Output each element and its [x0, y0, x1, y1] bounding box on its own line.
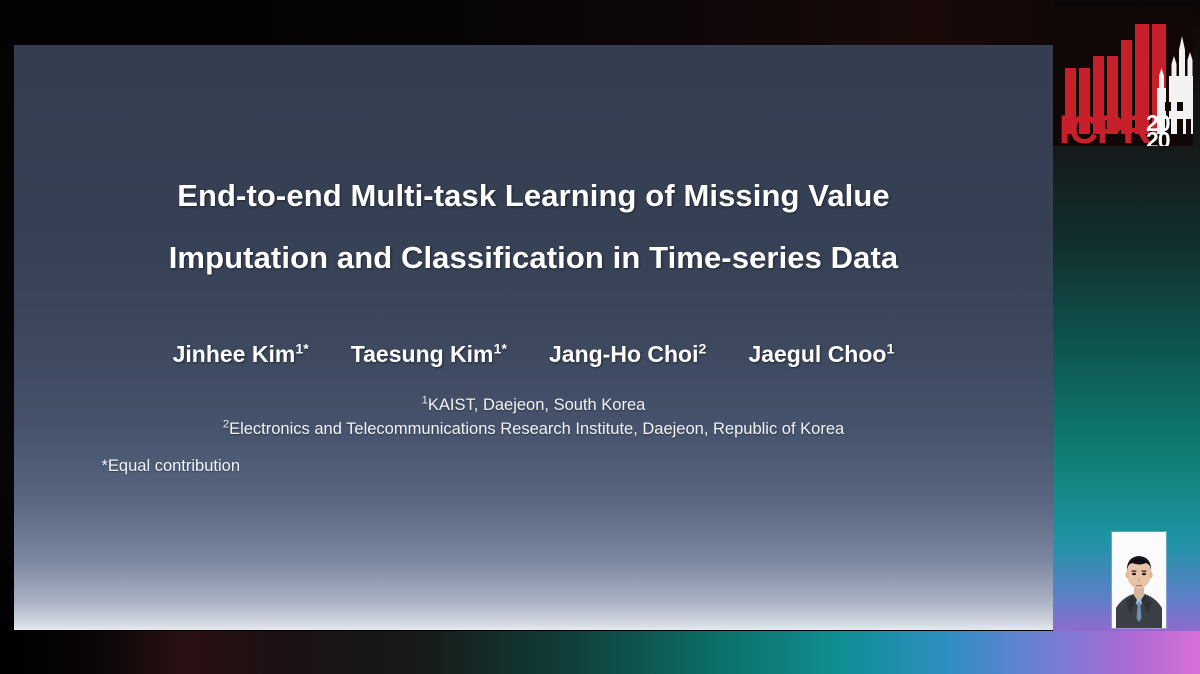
- icpr-2020-logo: ICPR 20 20: [1053, 6, 1193, 146]
- presenter-webcam-photo[interactable]: [1112, 532, 1166, 628]
- logo-wordmark: ICPR: [1059, 108, 1152, 146]
- author-1-marks: 1*: [295, 341, 308, 357]
- author-3-marks: 2: [699, 341, 707, 357]
- affiliation-1-text: KAIST, Daejeon, South Korea: [428, 396, 645, 414]
- title-line-2: Imputation and Classification in Time-se…: [84, 227, 984, 289]
- author-3-name: Jang-Ho Choi: [549, 341, 699, 367]
- logo-year-bottom: 20: [1146, 127, 1170, 146]
- affiliation-1: 1KAIST, Daejeon, South Korea: [84, 393, 984, 417]
- affiliations-block: 1KAIST, Daejeon, South Korea 2Electronic…: [84, 393, 984, 441]
- author-4-name: Jaegul Choo: [748, 341, 886, 367]
- affiliation-2: 2Electronics and Telecommunications Rese…: [84, 417, 984, 441]
- backdrop-gradient-bottom: [0, 631, 1200, 674]
- equal-contribution-note: *Equal contribution: [102, 457, 241, 475]
- presentation-slide: End-to-end Multi-task Learning of Missin…: [14, 45, 1053, 630]
- backdrop-gradient-top: [0, 0, 1053, 45]
- affiliation-2-text: Electronics and Telecommunications Resea…: [229, 420, 844, 438]
- title-line-1: End-to-end Multi-task Learning of Missin…: [84, 165, 984, 227]
- author-4-marks: 1: [886, 341, 894, 357]
- slide-title: End-to-end Multi-task Learning of Missin…: [84, 165, 984, 289]
- recording-frame: End-to-end Multi-task Learning of Missin…: [0, 0, 1200, 674]
- author-4: Jaegul Choo1: [748, 341, 894, 368]
- author-1: Jinhee Kim1*: [173, 341, 309, 368]
- author-3: Jang-Ho Choi2: [549, 341, 706, 368]
- footnote-block: *Equal contribution: [84, 455, 984, 477]
- author-2-marks: 1*: [494, 341, 507, 357]
- author-1-name: Jinhee Kim: [173, 341, 296, 367]
- authors-list: Jinhee Kim1* Taesung Kim1* Jang-Ho Choi2…: [84, 341, 984, 368]
- backdrop-gradient-left: [0, 0, 15, 674]
- author-2: Taesung Kim1*: [351, 341, 507, 368]
- author-2-name: Taesung Kim: [351, 341, 494, 367]
